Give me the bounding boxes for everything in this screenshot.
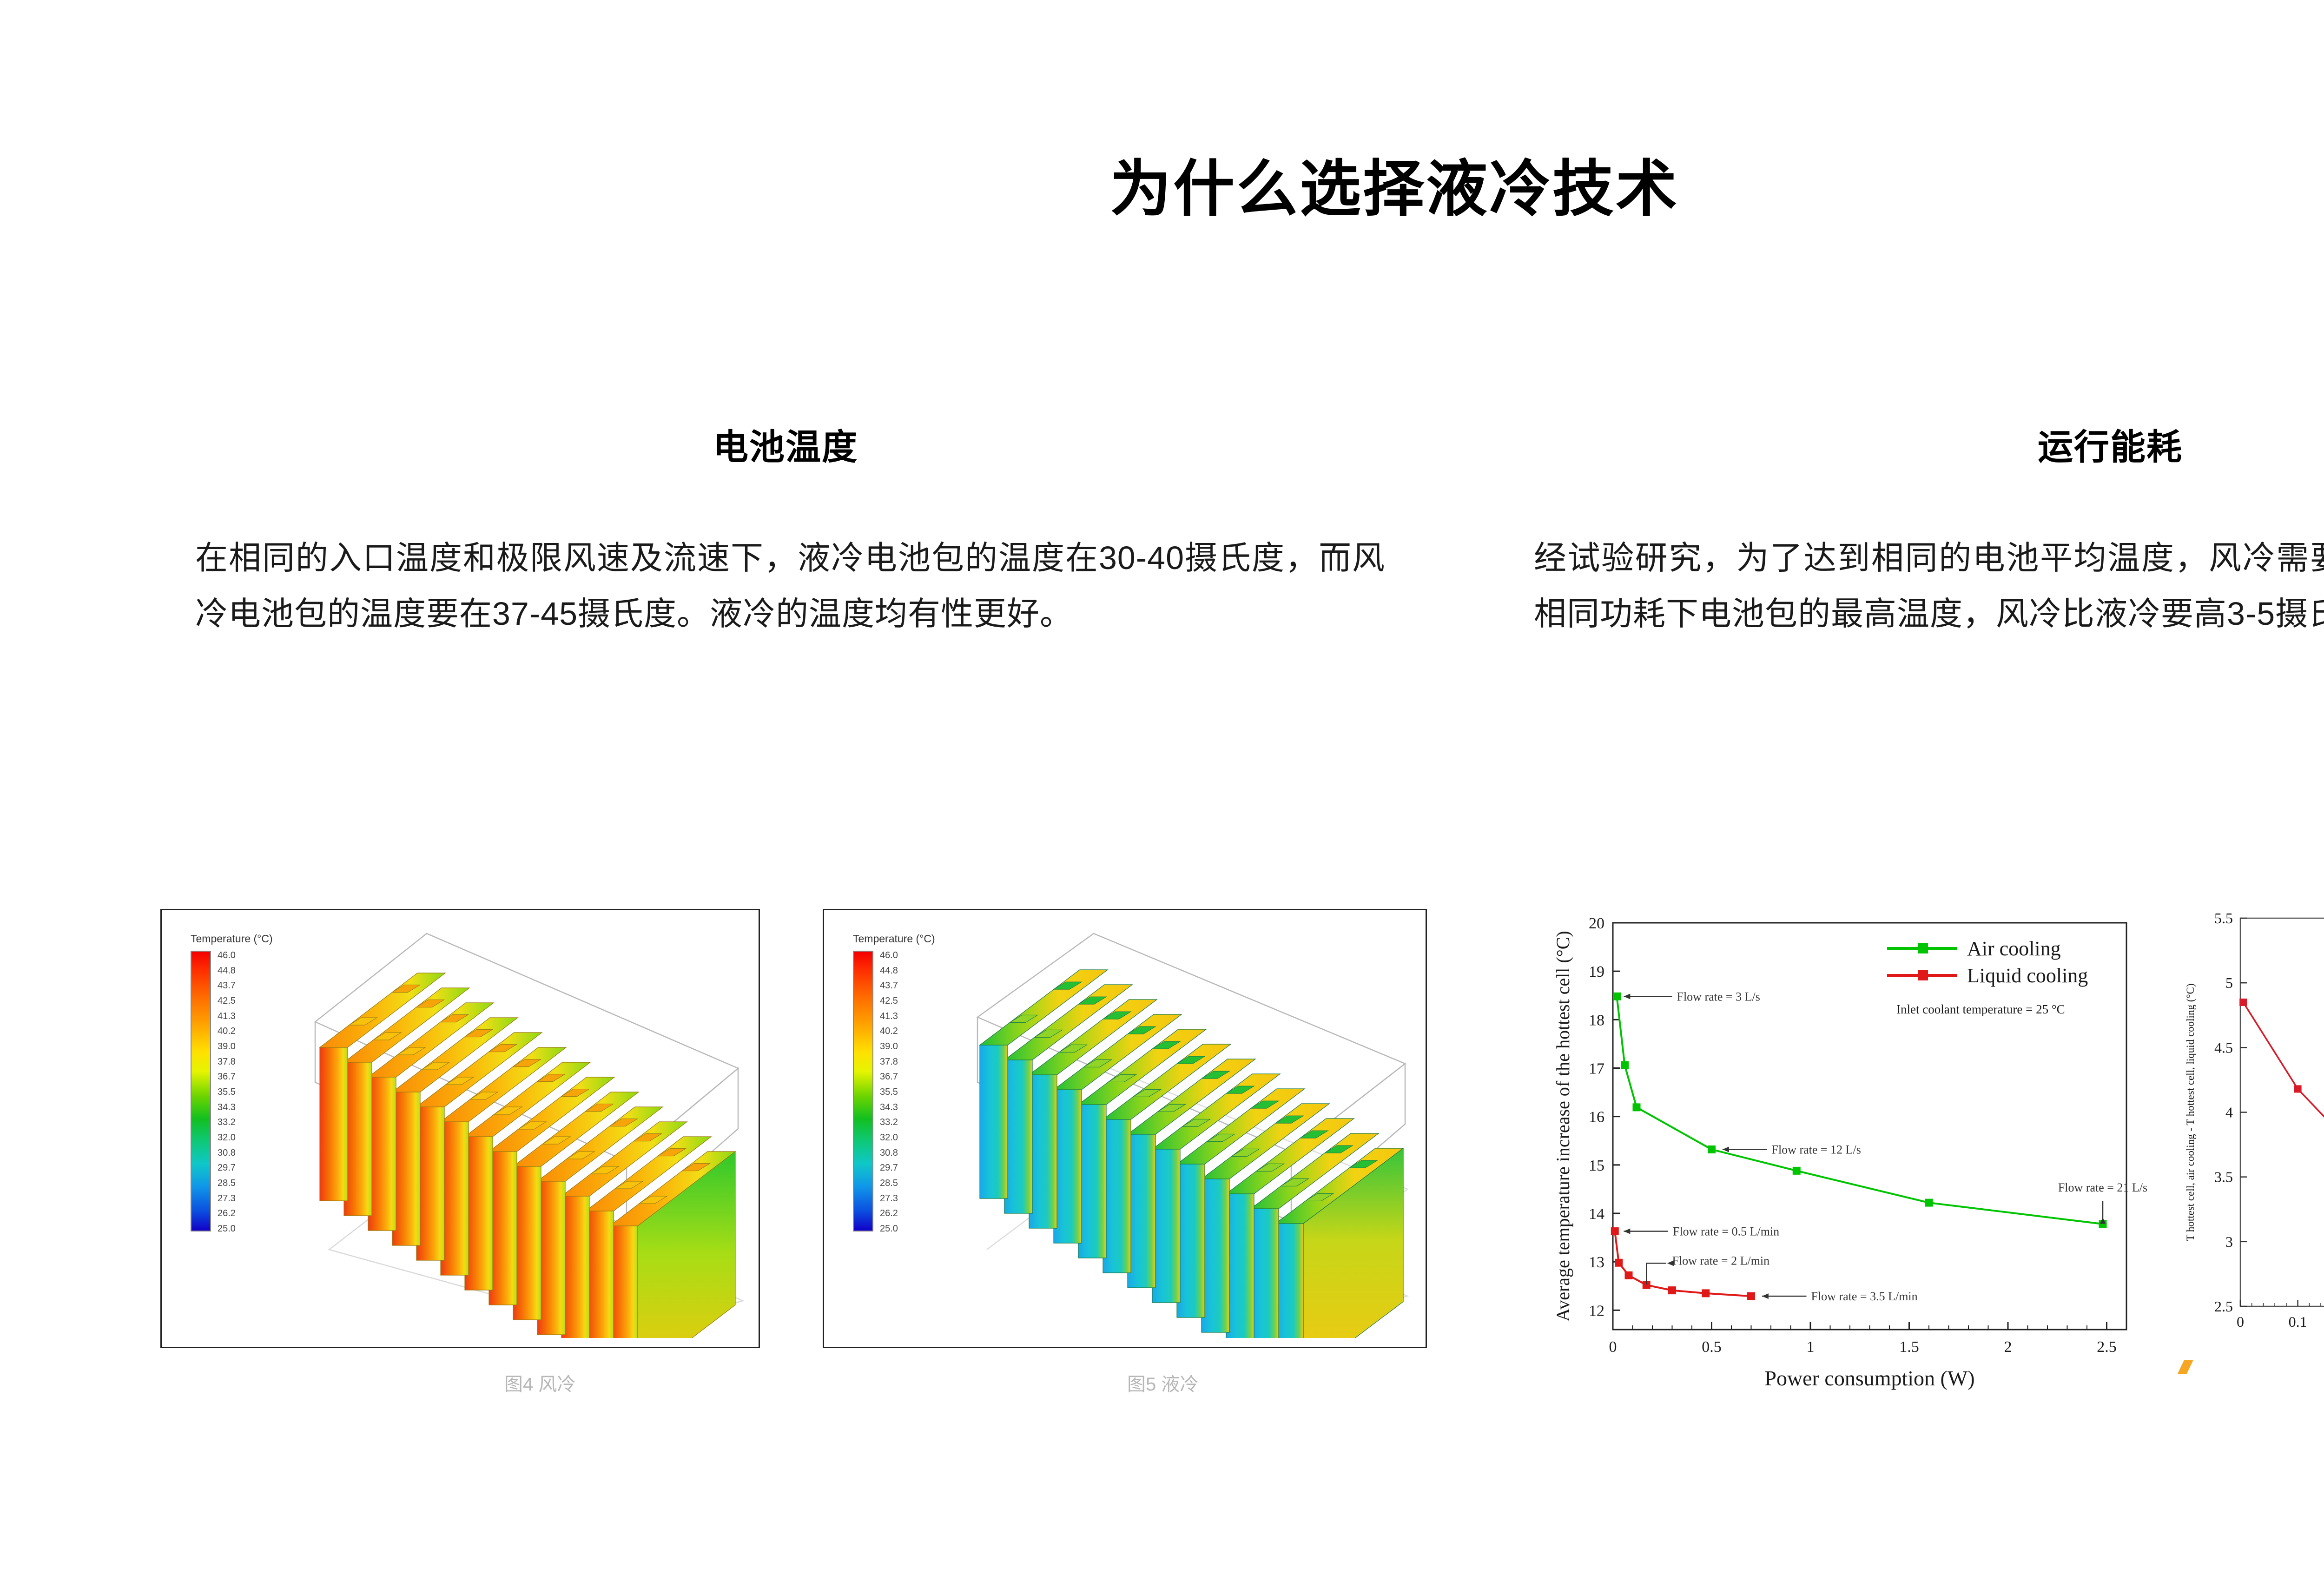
right-body-paragraph: 经试验研究，为了达到相同的电池平均温度，风冷需要比液冷高2-3倍的能耗。相同功耗… bbox=[1534, 530, 2324, 642]
cbar-tick: 43.7 bbox=[218, 981, 236, 990]
cbar-tick: 28.5 bbox=[218, 1178, 236, 1188]
cbar-tick: 39.0 bbox=[218, 1042, 236, 1051]
colorbar-title-liquid: Temperature (°C) bbox=[853, 933, 969, 945]
svg-text:2.5: 2.5 bbox=[2214, 1298, 2233, 1315]
svg-text:0: 0 bbox=[2237, 1313, 2244, 1330]
cbar-tick: 44.8 bbox=[218, 966, 236, 975]
svg-text:3.5: 3.5 bbox=[2214, 1169, 2233, 1185]
cbar-tick: 32.0 bbox=[880, 1133, 898, 1142]
colorbar-gradient-air bbox=[191, 951, 211, 1231]
svg-text:Inlet coolant temperature = 25: Inlet coolant temperature = 25 °C bbox=[1896, 1002, 2065, 1016]
cbar-tick: 41.3 bbox=[880, 1012, 898, 1021]
cbar-tick: 25.0 bbox=[218, 1224, 236, 1233]
svg-text:Flow rate = 3 L/s: Flow rate = 3 L/s bbox=[1677, 990, 1760, 1003]
colorbar-gradient-liquid bbox=[853, 951, 873, 1231]
svg-text:0.1: 0.1 bbox=[2289, 1313, 2307, 1330]
colorbar-title-air: Temperature (°C) bbox=[191, 933, 307, 945]
battery-pack-air-3d-image bbox=[301, 929, 747, 1338]
left-section-heading: 电池温度 bbox=[186, 418, 1385, 470]
svg-text:0: 0 bbox=[1609, 1338, 1617, 1356]
cbar-tick: 35.5 bbox=[218, 1087, 236, 1097]
figure-liquid-cooling: Temperature (°C) 46.0 44.8 43.7 42.5 41.… bbox=[823, 909, 1427, 1348]
cbar-tick: 33.2 bbox=[880, 1118, 898, 1127]
svg-text:5: 5 bbox=[2225, 974, 2233, 991]
figure-caption-air: 图4 风冷 bbox=[504, 1369, 575, 1396]
svg-text:Flow rate = 21 L/s: Flow rate = 21 L/s bbox=[2058, 1181, 2147, 1194]
svg-text:Flow rate = 3.5 L/min: Flow rate = 3.5 L/min bbox=[1811, 1290, 1918, 1303]
cbar-tick: 29.7 bbox=[880, 1163, 898, 1172]
cbar-tick: 41.3 bbox=[218, 1012, 236, 1021]
svg-text:12: 12 bbox=[1589, 1302, 1604, 1319]
cbar-tick: 46.0 bbox=[880, 951, 898, 960]
svg-text:16: 16 bbox=[1589, 1109, 1604, 1126]
right-section-heading: 运行能耗 bbox=[1525, 418, 2324, 470]
cbar-tick: 27.3 bbox=[880, 1194, 898, 1203]
svg-text:1: 1 bbox=[1807, 1338, 1815, 1356]
cbar-tick: 40.2 bbox=[880, 1026, 898, 1036]
svg-text:2.5: 2.5 bbox=[2097, 1338, 2117, 1356]
svg-text:17: 17 bbox=[1589, 1060, 1604, 1078]
cbar-tick: 36.7 bbox=[880, 1072, 898, 1081]
chart-group: 00.511.522.5121314151617181920Air coolin… bbox=[1543, 897, 2324, 1418]
left-body-paragraph: 在相同的入口温度和极限风速及流速下，液冷电池包的温度在30-40摄氏度，而风冷电… bbox=[195, 530, 1385, 642]
svg-text:Flow rate = 0.5 L/min: Flow rate = 0.5 L/min bbox=[1673, 1225, 1779, 1238]
cbar-tick: 33.2 bbox=[218, 1118, 236, 1127]
chart-power-vs-temperature-delta: 00.10.20.30.40.50.60.72.533.544.555.5T h… bbox=[2166, 897, 2324, 1390]
cbar-tick: 34.3 bbox=[880, 1103, 898, 1112]
svg-text:Average temperature increase o: Average temperature increase of the hott… bbox=[1552, 931, 1573, 1321]
svg-text:Air cooling: Air cooling bbox=[1967, 937, 2061, 960]
cbar-tick: 36.7 bbox=[218, 1072, 236, 1081]
cbar-tick: 29.7 bbox=[218, 1163, 236, 1172]
svg-text:Liquid cooling: Liquid cooling bbox=[1967, 964, 2088, 987]
svg-text:3: 3 bbox=[2225, 1233, 2233, 1250]
cbar-tick: 32.0 bbox=[218, 1133, 236, 1142]
svg-text:13: 13 bbox=[1589, 1254, 1604, 1271]
svg-text:0.5: 0.5 bbox=[1702, 1338, 1722, 1356]
cbar-tick: 39.0 bbox=[880, 1042, 898, 1051]
svg-text:15: 15 bbox=[1589, 1157, 1604, 1174]
svg-text:19: 19 bbox=[1589, 963, 1604, 980]
cbar-tick: 30.8 bbox=[880, 1148, 898, 1158]
svg-text:1.5: 1.5 bbox=[1899, 1338, 1919, 1356]
cbar-tick: 37.8 bbox=[218, 1057, 236, 1066]
battery-pack-liquid-3d-image bbox=[959, 929, 1419, 1338]
svg-text:T hottest cell, air cooling -: T hottest cell, air cooling - T hottest … bbox=[2185, 983, 2196, 1241]
colorbar-ticklabels-liquid: 46.0 44.8 43.7 42.5 41.3 40.2 39.0 37.8 … bbox=[880, 951, 898, 1233]
cbar-tick: 44.8 bbox=[880, 966, 898, 975]
chart-power-vs-temperature-rise: 00.511.522.5121314151617181920Air coolin… bbox=[1543, 897, 2166, 1418]
svg-text:5.5: 5.5 bbox=[2214, 910, 2233, 927]
svg-text:Flow rate = 2 L/min: Flow rate = 2 L/min bbox=[1672, 1254, 1770, 1267]
svg-text:2: 2 bbox=[2004, 1338, 2012, 1356]
cbar-tick: 40.2 bbox=[218, 1026, 236, 1036]
svg-text:4.5: 4.5 bbox=[2214, 1039, 2233, 1056]
cbar-tick: 42.5 bbox=[218, 996, 236, 1006]
cbar-tick: 28.5 bbox=[880, 1178, 898, 1188]
cbar-tick: 25.0 bbox=[880, 1224, 898, 1233]
cbar-tick: 26.2 bbox=[218, 1209, 236, 1218]
cbar-tick: 35.5 bbox=[880, 1087, 898, 1097]
cbar-tick: 27.3 bbox=[218, 1194, 236, 1203]
cbar-tick: 42.5 bbox=[880, 996, 898, 1006]
figure-air-cooling: Temperature (°C) 46.0 44.8 43.7 42.5 41.… bbox=[160, 909, 760, 1348]
page-title: 为什么选择液冷技术 bbox=[0, 139, 2324, 228]
figure-caption-liquid: 图5 液冷 bbox=[1127, 1369, 1198, 1396]
svg-text:Power consumption (W): Power consumption (W) bbox=[1764, 1366, 1974, 1390]
colorbar-ticklabels-air: 46.0 44.8 43.7 42.5 41.3 40.2 39.0 37.8 … bbox=[218, 951, 236, 1233]
cbar-tick: 26.2 bbox=[880, 1209, 898, 1218]
svg-text:20: 20 bbox=[1589, 915, 1604, 932]
figure-captions: 图4 风冷 图5 液冷 bbox=[160, 1369, 1429, 1411]
cbar-tick: 43.7 bbox=[880, 981, 898, 990]
colorbar-air: Temperature (°C) 46.0 44.8 43.7 42.5 41.… bbox=[191, 933, 307, 1233]
cbar-tick: 37.8 bbox=[880, 1057, 898, 1066]
cbar-tick: 30.8 bbox=[218, 1148, 236, 1158]
cbar-tick: 34.3 bbox=[218, 1103, 236, 1112]
left-column: 电池温度 在相同的入口温度和极限风速及流速下，液冷电池包的温度在30-40摄氏度… bbox=[195, 418, 1385, 642]
svg-text:4: 4 bbox=[2225, 1104, 2233, 1121]
svg-text:14: 14 bbox=[1589, 1205, 1604, 1223]
right-column: 运行能耗 经试验研究，为了达到相同的电池平均温度，风冷需要比液冷高2-3倍的能耗… bbox=[1534, 418, 2324, 642]
svg-text:Flow rate = 12 L/s: Flow rate = 12 L/s bbox=[1772, 1143, 1861, 1157]
colorbar-liquid: Temperature (°C) 46.0 44.8 43.7 42.5 41.… bbox=[853, 933, 969, 1233]
cbar-tick: 46.0 bbox=[218, 951, 236, 960]
svg-text:18: 18 bbox=[1589, 1012, 1604, 1029]
slide-canvas: 为什么选择液冷技术 电池温度 在相同的入口温度和极限风速及流速下，液冷电池包的温… bbox=[0, 0, 2324, 1569]
